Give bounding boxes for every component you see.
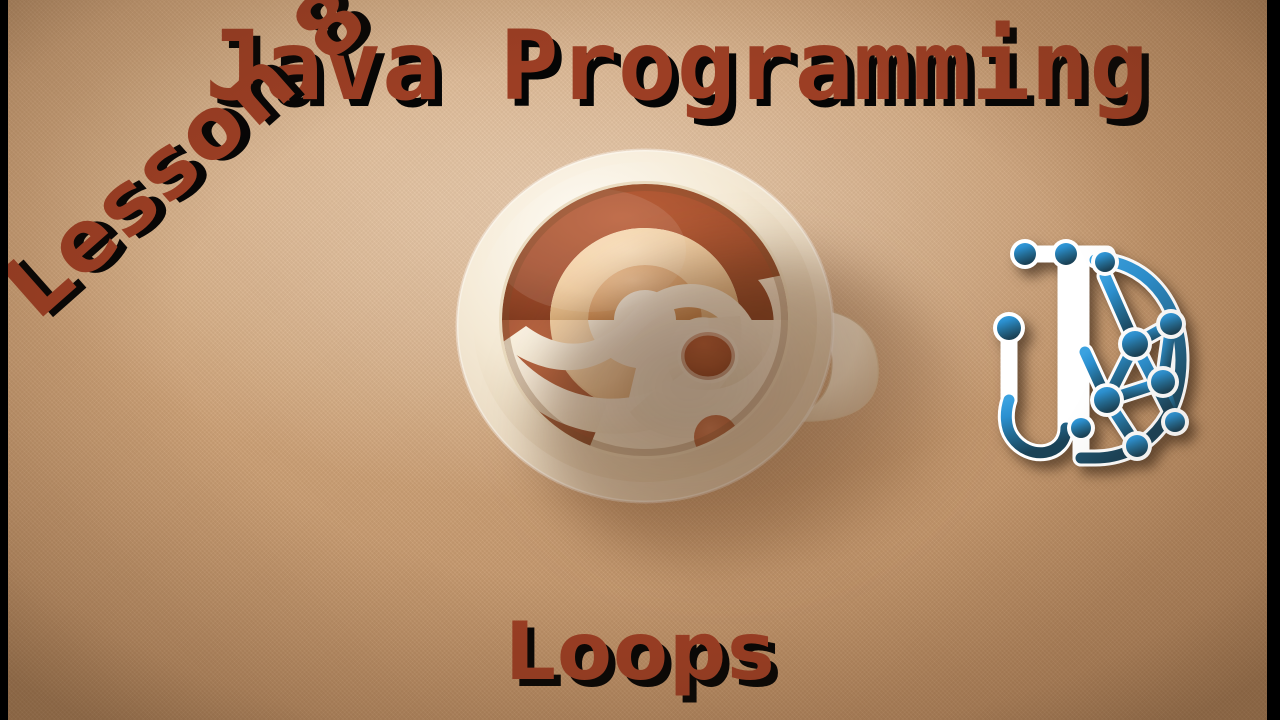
topic-label: Loops: [505, 605, 776, 698]
coffee-cup-graphic: [440, 130, 910, 520]
letterbox-bar-right: [1267, 0, 1280, 720]
video-thumbnail: Java Programming Lesson 8 Loops: [0, 0, 1280, 720]
letterbox-bar-left: [0, 0, 8, 720]
jd-monogram-logo: [985, 232, 1200, 482]
